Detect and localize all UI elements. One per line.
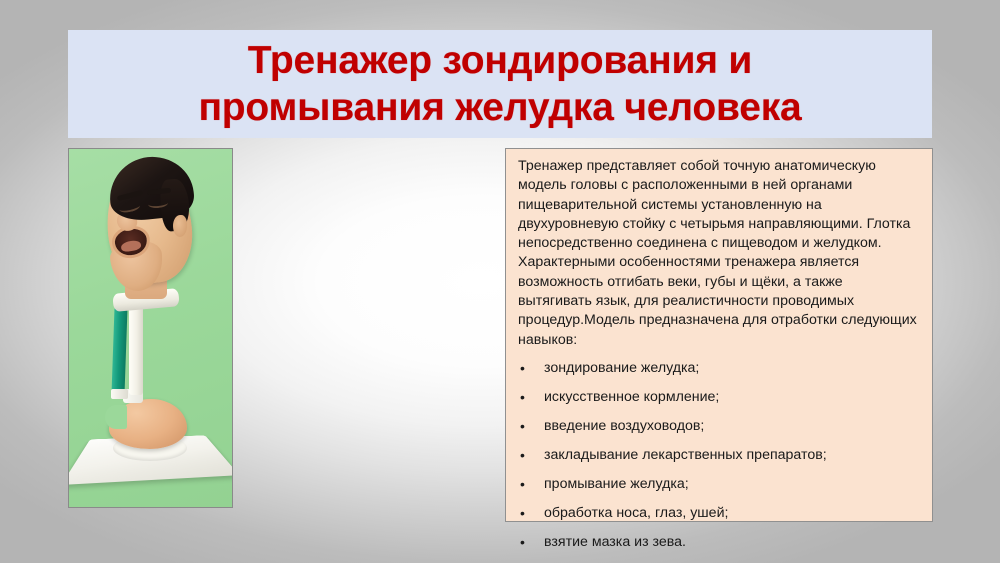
list-item-label: зондирование желудка; bbox=[544, 360, 699, 376]
title-banner: Тренажер зондирования и промывания желуд… bbox=[68, 30, 932, 138]
list-item: • введение воздуховодов; bbox=[518, 418, 920, 435]
bullet-icon: • bbox=[520, 418, 525, 435]
page-title: Тренажер зондирования и промывания желуд… bbox=[198, 37, 801, 131]
esophagus-tube-shape bbox=[129, 299, 143, 395]
description-panel: Тренажер представляет собой точную анато… bbox=[505, 148, 933, 522]
stomach-notch-shape bbox=[105, 405, 127, 429]
bullet-icon: • bbox=[520, 389, 525, 406]
list-item-label: закладывание лекарственных препаратов; bbox=[544, 447, 827, 463]
manikin-photo bbox=[68, 148, 233, 508]
green-probe-tube-shape bbox=[111, 307, 127, 395]
ear-shape bbox=[173, 215, 187, 237]
intro-paragraph: Тренажер представляет собой точную анато… bbox=[518, 157, 920, 350]
slide-canvas: Тренажер зондирования и промывания желуд… bbox=[0, 0, 1000, 563]
list-item-label: промывание желудка; bbox=[544, 476, 689, 492]
list-item: • закладывание лекарственных препаратов; bbox=[518, 447, 920, 464]
list-item: • обработка носа, глаз, ушей; bbox=[518, 505, 920, 522]
list-item: • искусственное кормление; bbox=[518, 389, 920, 406]
tube-clip-shape bbox=[111, 389, 128, 399]
bullet-icon: • bbox=[520, 534, 525, 551]
photo-background bbox=[69, 149, 232, 507]
bullet-icon: • bbox=[520, 505, 525, 522]
list-item-label: искусственное кормление; bbox=[544, 389, 719, 405]
list-item-label: взятие мазка из зева. bbox=[544, 534, 686, 550]
bullet-icon: • bbox=[520, 447, 525, 464]
bullet-icon: • bbox=[520, 360, 525, 377]
bullet-icon: • bbox=[520, 476, 525, 493]
list-item-label: введение воздуховодов; bbox=[544, 418, 704, 434]
skills-list: • зондирование желудка; • искусственное … bbox=[518, 360, 920, 551]
list-item-label: обработка носа, глаз, ушей; bbox=[544, 505, 728, 521]
list-item: • зондирование желудка; bbox=[518, 360, 920, 377]
list-item: • взятие мазка из зева. bbox=[518, 534, 920, 551]
list-item: • промывание желудка; bbox=[518, 476, 920, 493]
